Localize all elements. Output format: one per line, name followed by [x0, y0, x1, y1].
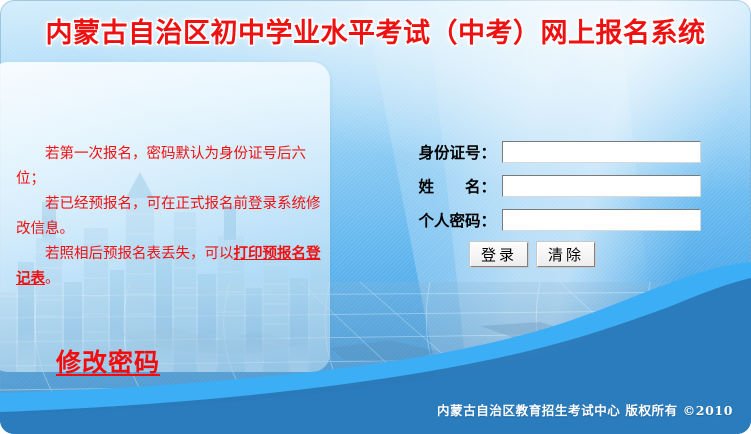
student-name-input[interactable] [502, 175, 701, 197]
password-input[interactable] [502, 209, 701, 231]
header: 内蒙古自治区初中学业水平考试（中考）网上报名系统 [0, 0, 751, 60]
form-row-student-name: 姓 名： [396, 174, 706, 198]
form-buttons: 登录 清除 [470, 242, 706, 267]
form-row-id-number: 身份证号： [396, 140, 706, 164]
login-page: 内蒙古自治区初中学业水平考试（中考）网上报名系统 若第一次报名，密码默认为身份证… [0, 0, 751, 434]
instruction-line-3-prefix: 若照相后预报名表丢失，可以 [45, 246, 234, 262]
login-button[interactable]: 登录 [470, 242, 528, 267]
instructions-text: 若第一次报名，密码默认为身份证号后六位； 若已经预报名，可在正式报名前登录系统修… [16, 142, 334, 292]
student-name-label: 姓 名： [396, 175, 502, 197]
change-password-link[interactable]: 修改密码 [56, 343, 160, 379]
password-label: 个人密码： [396, 209, 502, 231]
instruction-line-1: 若第一次报名，密码默认为身份证号后六位； [16, 142, 334, 192]
form-row-password: 个人密码： [396, 208, 706, 232]
id-number-input[interactable] [502, 141, 701, 163]
footer-copyright: 内蒙古自治区教育招生考试中心 版权所有 ©2010 [437, 400, 733, 419]
login-form: 身份证号： 姓 名： 个人密码： 登录 清除 [396, 140, 706, 267]
page-title: 内蒙古自治区初中学业水平考试（中考）网上报名系统 [46, 11, 706, 50]
instruction-line-2: 若已经预报名，可在正式报名前登录系统修改信息。 [16, 192, 334, 242]
clear-button[interactable]: 清除 [537, 242, 595, 267]
instruction-line-3: 若照相后预报名表丢失，可以打印预报名登记表。 [16, 242, 334, 292]
id-number-label: 身份证号： [396, 141, 502, 163]
instruction-line-3-suffix: 。 [45, 271, 60, 287]
